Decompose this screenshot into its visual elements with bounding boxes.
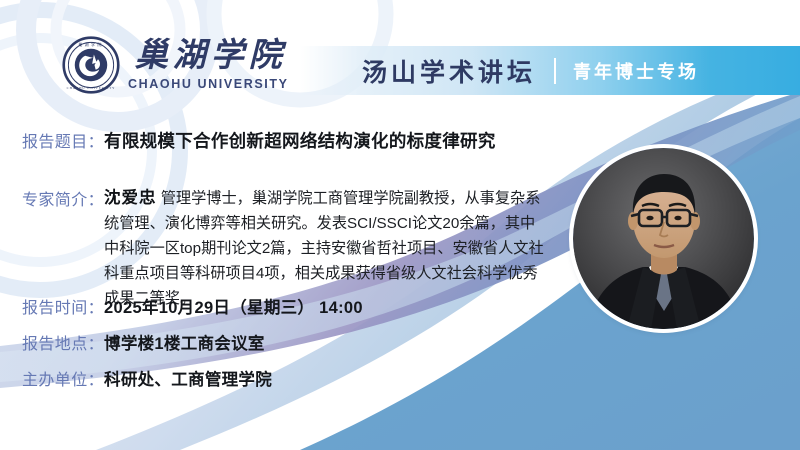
speaker-bio-text: 管理学博士，巢湖学院工商管理学院副教授，从事复杂系统管理、演化博弈等相关研究。发…	[104, 190, 544, 307]
speaker-bio-body: 沈爱忠 管理学博士，巢湖学院工商管理学院副教授，从事复杂系统管理、演化博弈等相关…	[104, 186, 547, 311]
talk-place-label: 报告地点：	[22, 330, 104, 354]
organizer-value: 科研处、工商管理学院	[104, 366, 272, 390]
talk-place-row: 报告地点： 博学楼1楼工商会议室	[22, 330, 265, 354]
talk-time-value: 2025年10月29日（星期三） 14:00	[104, 294, 363, 318]
talk-title-value: 有限规模下合作创新超网络结构演化的标度律研究	[104, 128, 496, 153]
talk-time-label: 报告时间：	[22, 294, 104, 318]
talk-title-label: 报告题目：	[22, 128, 104, 152]
speaker-bio-row: 专家简介： 沈爱忠 管理学博士，巢湖学院工商管理学院副教授，从事复杂系统管理、演…	[22, 186, 547, 311]
organizer-row: 主办单位： 科研处、工商管理学院	[22, 366, 272, 390]
talk-time-row: 报告时间： 2025年10月29日（星期三） 14:00	[22, 294, 363, 318]
talk-place-value: 博学楼1楼工商会议室	[104, 330, 265, 354]
talk-title-row: 报告题目： 有限规模下合作创新超网络结构演化的标度律研究	[22, 128, 496, 153]
speaker-portrait-image	[573, 148, 754, 329]
speaker-name: 沈爱忠	[104, 189, 157, 207]
speaker-bio-label: 专家简介：	[22, 186, 104, 210]
speaker-portrait	[573, 148, 754, 329]
seminar-poster: 巢湖学院 CHAOHU UNIVERSITY 巢湖学院 CHAOHU UNIVE…	[0, 0, 800, 450]
organizer-label: 主办单位：	[22, 366, 104, 390]
